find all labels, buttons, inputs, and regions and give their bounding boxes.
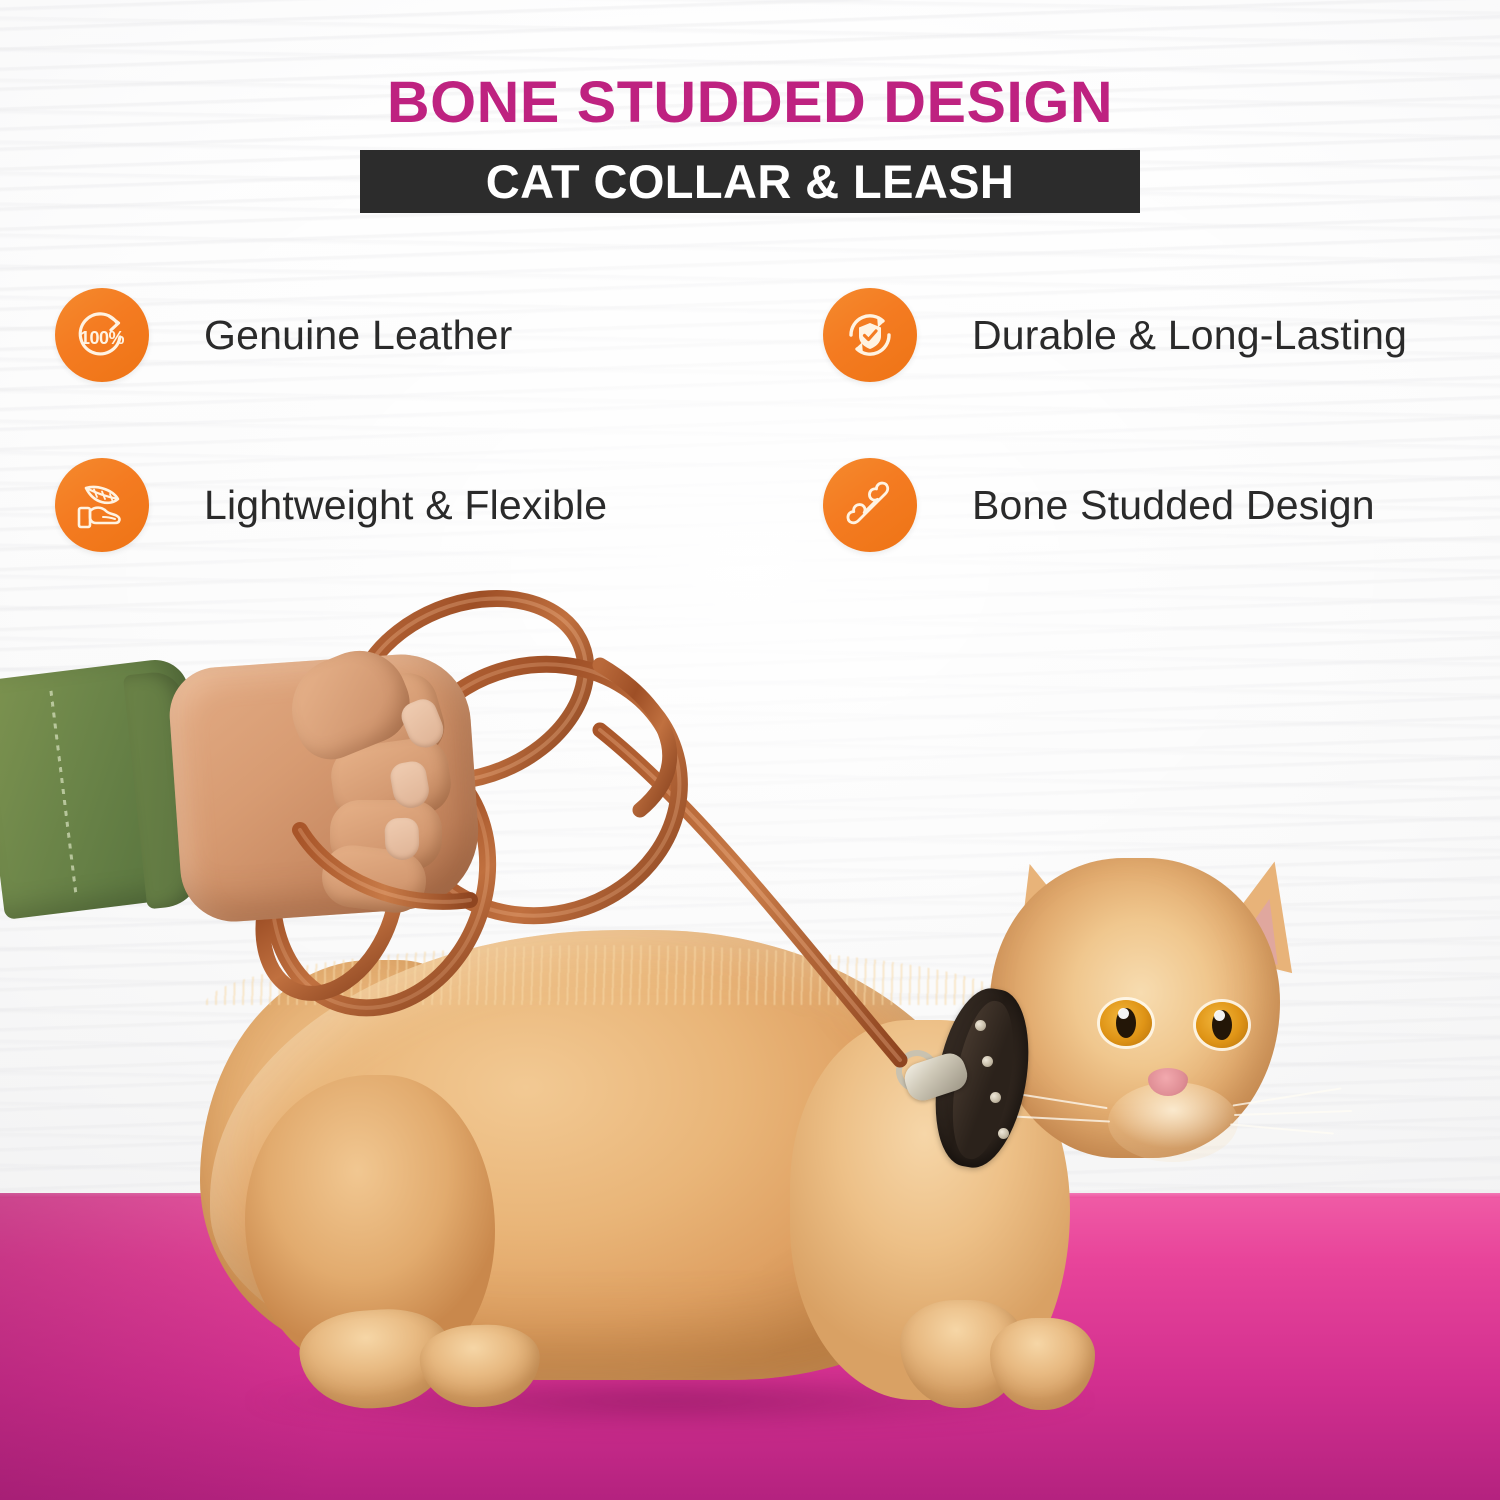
feature-item-genuine-leather: 100% Genuine Leather xyxy=(55,288,512,382)
feature-item-durable: Durable & Long-Lasting xyxy=(823,288,1407,382)
product-infographic: BONE STUDDED DESIGN CAT COLLAR & LEASH 1… xyxy=(0,0,1500,1500)
feature-label: Durable & Long-Lasting xyxy=(972,315,1407,356)
subtitle-text: CAT COLLAR & LEASH xyxy=(486,158,1015,205)
feature-label: Bone Studded Design xyxy=(972,485,1375,526)
collar-stud xyxy=(982,1056,993,1067)
shield-check-refresh-icon xyxy=(823,288,917,382)
collar-stud xyxy=(990,1092,1001,1103)
feature-item-bone-studded: Bone Studded Design xyxy=(823,458,1375,552)
feature-item-lightweight: Lightweight & Flexible xyxy=(55,458,607,552)
fingernail xyxy=(384,817,419,860)
collar-stud xyxy=(998,1128,1009,1139)
feature-label: Genuine Leather xyxy=(204,315,512,356)
hand-feather-icon xyxy=(55,458,149,552)
hundred-percent-icon: 100% xyxy=(55,288,149,382)
page-title: BONE STUDDED DESIGN xyxy=(0,74,1500,132)
cat-eye-glint-right xyxy=(1214,1010,1225,1021)
feature-label: Lightweight & Flexible xyxy=(204,485,607,526)
cat-eye-glint-left xyxy=(1118,1008,1129,1019)
feature-list: 100% Genuine Leather Durable & Long-Last… xyxy=(0,288,1500,578)
bone-icon xyxy=(823,458,917,552)
svg-text:100%: 100% xyxy=(80,328,125,348)
collar-stud xyxy=(975,1020,986,1031)
subtitle-banner: CAT COLLAR & LEASH xyxy=(360,150,1140,213)
